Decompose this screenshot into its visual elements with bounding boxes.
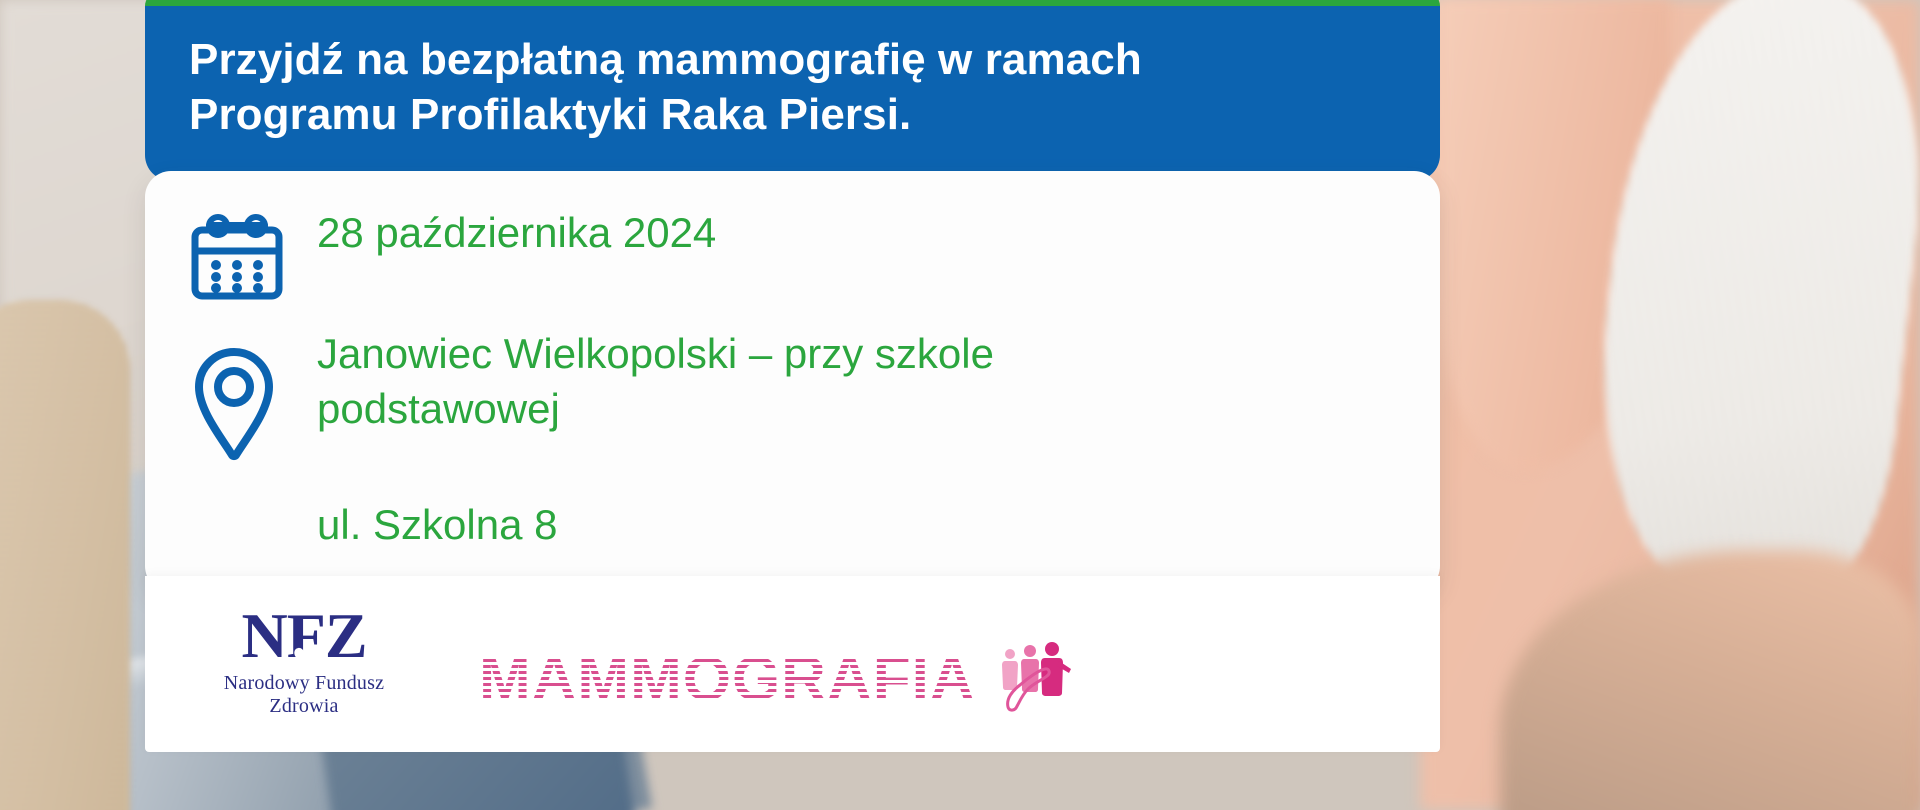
nfz-logo: NFZ Narodowy Fundusz Zdrowia	[189, 604, 419, 718]
headline-line-2: Programu Profilaktyki Raka Piersi.	[189, 87, 1396, 142]
women-silhouettes-ribbon-icon	[990, 641, 1086, 718]
nfz-wordmark-text: NFZ	[242, 600, 367, 671]
details-panel: 28 października 2024 Janowiec Wielkopols…	[145, 171, 1440, 592]
event-date: 28 października 2024	[317, 205, 1396, 260]
poster-card: Przyjdź na bezpłatną mammografię w ramac…	[145, 0, 1440, 752]
venue-street: ul. Szkolna 8	[317, 481, 1396, 552]
mammografia-wordmark: MAMMOGRAFIA	[479, 647, 976, 712]
mammografia-logo: MAMMOGRAFIA	[479, 641, 1086, 718]
background-knit-fabric	[0, 300, 130, 810]
nfz-wordmark: NFZ	[189, 604, 419, 668]
headline-panel: Przyjdź na bezpłatną mammografię w ramac…	[145, 6, 1440, 181]
map-pin-icon-cell	[189, 312, 317, 477]
venue-line-2: podstawowej	[317, 381, 1396, 436]
details-grid: 28 października 2024 Janowiec Wielkopols…	[189, 205, 1396, 552]
venue-name: Janowiec Wielkopolski – przy szkole pods…	[317, 312, 1396, 437]
logo-strip: NFZ Narodowy Fundusz Zdrowia MAMMOGRAFIA	[145, 576, 1440, 752]
calendar-icon	[189, 213, 285, 308]
venue-line-1: Janowiec Wielkopolski – przy szkole	[317, 326, 1396, 381]
headline-line-1: Przyjdź na bezpłatną mammografię w ramac…	[189, 32, 1396, 87]
calendar-icon-cell	[189, 205, 317, 308]
nfz-subtitle: Narodowy Fundusz Zdrowia	[189, 672, 419, 718]
map-pin-icon	[189, 342, 279, 477]
